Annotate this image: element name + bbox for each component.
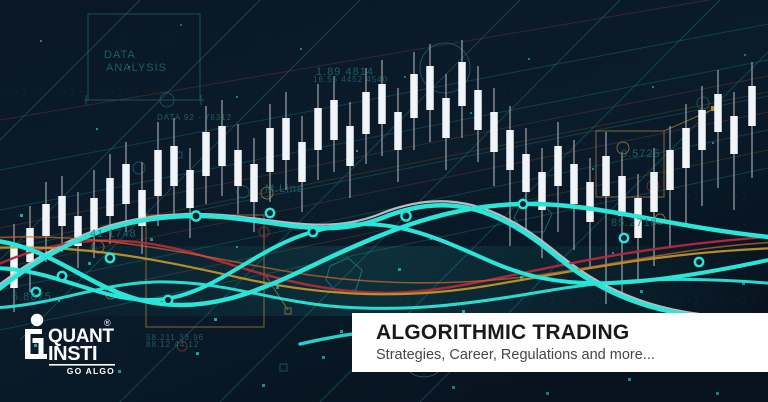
quantinsti-logo: QUANT INSTI ® GO ALGO xyxy=(18,310,123,378)
background-label: M.Line xyxy=(265,183,304,195)
logo-bracket-top xyxy=(25,329,42,334)
logo-text-insti: INSTI xyxy=(48,343,97,365)
logo-tagline: GO ALGO xyxy=(67,366,115,376)
background-label: 41.1748 xyxy=(90,228,137,240)
logo-bracket-stem xyxy=(39,338,44,354)
page-title: ALGORITHMIC TRADING xyxy=(376,320,768,345)
logo-bracket-bottom xyxy=(25,354,47,359)
logo-trademark: ® xyxy=(104,318,111,328)
algorithmic-trading-banner: DATAANALYSISDATA 92 - 783121.89 481416.5… xyxy=(0,0,768,402)
caption-panel: ALGORITHMIC TRADING Strategies, Career, … xyxy=(352,313,768,372)
background-label: 0.5725 xyxy=(621,148,661,160)
background-label: 85.2718 xyxy=(611,217,658,229)
background-label: DATA 92 - 78312 xyxy=(157,113,232,122)
background-label: ANALYSIS xyxy=(106,62,167,74)
background-label: DATA xyxy=(104,49,136,61)
background-label: 88.12 44.12 xyxy=(146,340,199,349)
page-subtitle: Strategies, Career, Regulations and more… xyxy=(376,345,768,366)
background-label: 16.55 4452 4540 xyxy=(313,75,388,84)
logo-dot-icon xyxy=(31,314,43,326)
background-label: 5.8875 xyxy=(12,291,52,303)
